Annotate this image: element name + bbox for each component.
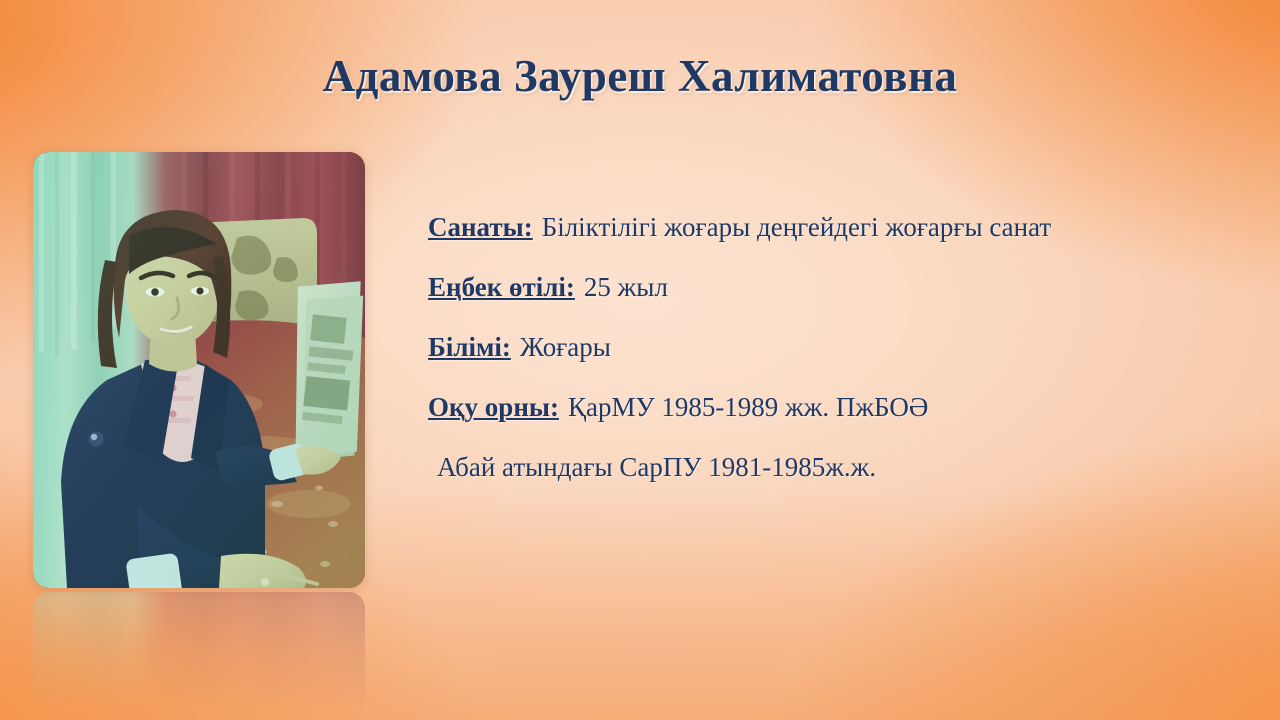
info-row-education: Білімі:Жоғары [428,334,1248,361]
info-row-institution: Оқу орны:ҚарМУ 1985-1989 жж. ПжБОӘ [428,394,1248,421]
info-row-experience: Еңбек өтілі:25 жыл [428,274,1248,301]
info-row-institution-second: Абай атындағы СарПУ 1981-1985ж.ж. [428,454,1248,481]
info-value-education: Жоғары [520,332,611,362]
portrait-photo-artwork [33,152,365,588]
info-label-institution: Оқу орны: [428,392,559,422]
info-label-category: Санаты: [428,212,533,242]
portrait-illustration [33,152,365,588]
portrait-photo-block [33,152,365,588]
info-label-education: Білімі: [428,332,511,362]
portrait-photo [33,152,365,588]
slide-canvas: Адамова Зауреш Халиматовна [0,0,1280,720]
portrait-reflection-illustration [33,592,365,720]
info-row-category: Санаты:Біліктілігі жоғары деңгейдегі жоғ… [428,214,1248,241]
info-value-institution: ҚарМУ 1985-1989 жж. ПжБОӘ [568,392,928,422]
page-title: Адамова Зауреш Халиматовна [0,50,1280,102]
info-label-experience: Еңбек өтілі: [428,272,575,302]
info-value-category: Біліктілігі жоғары деңгейдегі жоғарғы са… [542,212,1051,242]
info-block: Санаты:Біліктілігі жоғары деңгейдегі жоғ… [428,214,1248,481]
info-value-experience: 25 жыл [584,272,668,302]
portrait-photo-reflection [33,592,365,720]
portrait-photo-reflection-artwork [33,592,365,720]
